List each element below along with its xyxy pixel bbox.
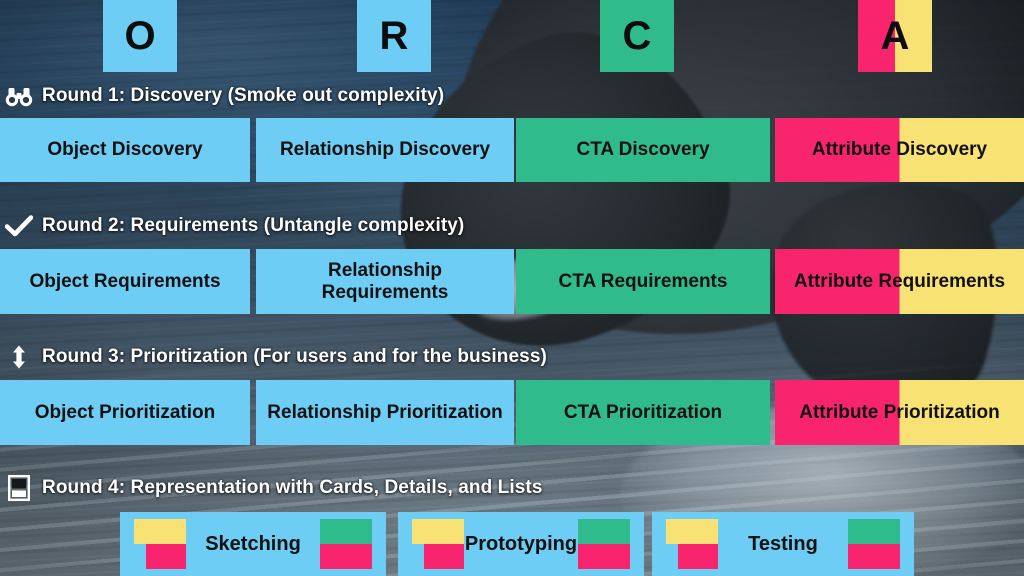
up-down-arrow-icon — [4, 345, 34, 369]
bar-cta-requirements-label: CTA Requirements — [516, 271, 770, 292]
card-sketching-label: Sketching — [186, 533, 320, 556]
swatch-green — [320, 519, 372, 544]
round-1-heading: Round 1: Discovery (Smoke out complexity… — [4, 82, 444, 110]
card-testing[interactable]: Testing — [652, 512, 914, 576]
swatch-pink — [678, 544, 718, 569]
letter-c-glyph: C — [623, 16, 652, 56]
swatch-yellow — [666, 519, 718, 544]
swatch-pink — [848, 544, 900, 569]
round-3-bar-row: Object Prioritization Relationship Prior… — [0, 380, 1024, 445]
sketching-swatch-right — [320, 519, 372, 569]
sketching-swatch-left — [134, 519, 186, 569]
round-4-heading: Round 4: Representation with Cards, Deta… — [4, 474, 543, 502]
bar-cta-discovery-label: CTA Discovery — [516, 139, 770, 160]
bar-relationship-prioritization-label: Relationship Prioritization — [256, 402, 514, 423]
bar-relationship-discovery[interactable]: Relationship Discovery — [256, 118, 514, 182]
bar-attribute-discovery-label: Attribute Discovery — [775, 139, 1024, 160]
letter-a-glyph: A — [881, 16, 910, 56]
swatch-yellow — [134, 519, 186, 544]
bar-cta-prioritization-label: CTA Prioritization — [516, 402, 770, 423]
bar-object-discovery[interactable]: Object Discovery — [0, 118, 250, 182]
swatch-pink — [578, 544, 630, 569]
letter-tile-a: A — [858, 0, 932, 72]
checkmark-icon — [4, 214, 34, 238]
letter-tile-c: C — [600, 0, 674, 72]
prototyping-swatch-right — [578, 519, 630, 569]
letter-tile-o: O — [103, 0, 177, 72]
testing-swatch-right — [848, 519, 900, 569]
bar-attribute-discovery[interactable]: Attribute Discovery — [775, 118, 1024, 182]
bar-object-requirements-label: Object Requirements — [0, 271, 250, 292]
card-prototyping[interactable]: Prototyping — [398, 512, 644, 576]
round-3-heading: Round 3: Prioritization (For users and f… — [4, 343, 547, 371]
bar-attribute-prioritization[interactable]: Attribute Prioritization — [775, 380, 1024, 445]
prototyping-swatch-left — [412, 519, 464, 569]
slide-canvas: O R C A Round 1: Discovery (Smoke out co… — [0, 0, 1024, 576]
bar-object-prioritization[interactable]: Object Prioritization — [0, 380, 250, 445]
round-2-heading-text: Round 2: Requirements (Untangle complexi… — [42, 215, 464, 237]
bar-relationship-requirements[interactable]: Relationship Requirements — [256, 249, 514, 314]
card-layout-icon — [4, 476, 34, 500]
card-sketching[interactable]: Sketching — [120, 512, 386, 576]
card-testing-label: Testing — [718, 533, 848, 556]
swatch-pink — [146, 544, 186, 569]
swatch-green — [848, 519, 900, 544]
bar-attribute-requirements-label: Attribute Requirements — [775, 271, 1024, 292]
bar-attribute-requirements[interactable]: Attribute Requirements — [775, 249, 1024, 314]
swatch-yellow — [412, 519, 464, 544]
bar-relationship-prioritization[interactable]: Relationship Prioritization — [256, 380, 514, 445]
swatch-pink — [424, 544, 464, 569]
bar-relationship-discovery-label: Relationship Discovery — [256, 139, 514, 160]
binoculars-icon — [4, 84, 34, 108]
round-4-heading-text: Round 4: Representation with Cards, Deta… — [42, 477, 543, 499]
bar-object-discovery-label: Object Discovery — [0, 139, 250, 160]
bar-object-prioritization-label: Object Prioritization — [0, 402, 250, 423]
bar-object-requirements[interactable]: Object Requirements — [0, 249, 250, 314]
round-1-bar-row: Object Discovery Relationship Discovery … — [0, 118, 1024, 182]
letter-tile-r: R — [357, 0, 431, 72]
bar-relationship-requirements-label: Relationship Requirements — [256, 260, 514, 303]
testing-swatch-left — [666, 519, 718, 569]
letter-o-glyph: O — [124, 16, 155, 56]
round-3-heading-text: Round 3: Prioritization (For users and f… — [42, 346, 547, 368]
bar-cta-requirements[interactable]: CTA Requirements — [516, 249, 770, 314]
bar-attribute-prioritization-label: Attribute Prioritization — [775, 402, 1024, 423]
round-2-bar-row: Object Requirements Relationship Require… — [0, 249, 1024, 314]
bar-cta-prioritization[interactable]: CTA Prioritization — [516, 380, 770, 445]
swatch-green — [578, 519, 630, 544]
card-prototyping-label: Prototyping — [464, 533, 578, 556]
letter-r-glyph: R — [380, 16, 409, 56]
bar-cta-discovery[interactable]: CTA Discovery — [516, 118, 770, 182]
swatch-pink — [320, 544, 372, 569]
round-1-heading-text: Round 1: Discovery (Smoke out complexity… — [42, 85, 444, 107]
round-2-heading: Round 2: Requirements (Untangle complexi… — [4, 212, 464, 240]
